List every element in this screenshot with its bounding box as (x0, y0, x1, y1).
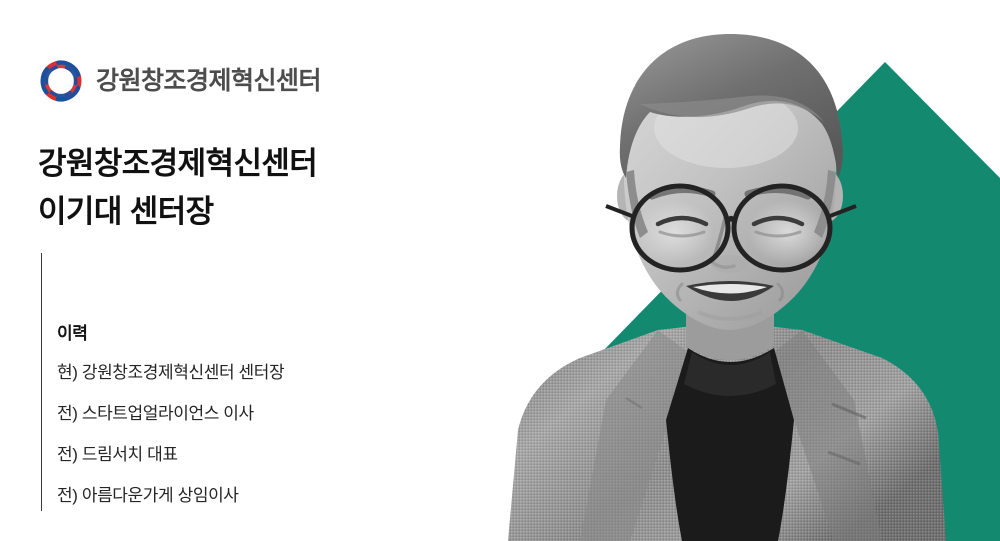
career-section-title: 이력 (57, 325, 284, 342)
list-item: 전) 스타트업얼라이언스 이사 (57, 405, 284, 422)
eyeglasses (606, 186, 856, 270)
portrait-torso (508, 322, 946, 541)
page-title-line-1: 강원창조경제혁신센터 (38, 140, 317, 188)
list-item: 전) 드림서치 대표 (57, 446, 284, 463)
portrait-face (620, 34, 843, 330)
portrait-photo (430, 0, 1000, 541)
list-item: 현) 강원창조경제혁신센터 센터장 (57, 364, 284, 381)
page-title: 강원창조경제혁신센터 이기대 센터장 (38, 140, 317, 236)
career-list: 현) 강원창조경제혁신센터 센터장 전) 스타트업얼라이언스 이사 전) 드림서… (57, 364, 284, 504)
page-title-line-2: 이기대 센터장 (38, 188, 317, 236)
presentation-slide: 강원창조경제혁신센터 강원창조경제혁신센터 이기대 센터장 이력 현) 강원창조… (0, 0, 1000, 541)
portrait-neck (686, 282, 774, 360)
vertical-divider (41, 253, 42, 511)
logo-lockup: 강원창조경제혁신센터 (36, 56, 321, 106)
logo-wordmark: 강원창조경제혁신센터 (96, 69, 321, 94)
portrait-ears (617, 170, 843, 222)
career-section: 이력 현) 강원창조경제혁신센터 센터장 전) 스타트업얼라이언스 이사 전) … (57, 325, 284, 504)
list-item: 전) 아름다운가게 상임이사 (57, 487, 284, 504)
gangwon-ccei-swirl-logo-icon (36, 56, 86, 106)
